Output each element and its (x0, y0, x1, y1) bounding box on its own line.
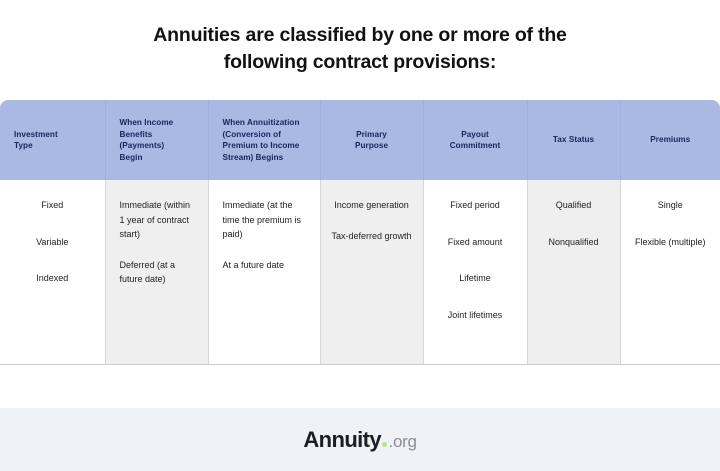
logo-dot-icon (382, 442, 387, 447)
page-title: Annuities are classified by one or more … (0, 22, 720, 76)
cell-item: Fixed amount (434, 235, 517, 250)
spacer (538, 213, 610, 235)
header-line: Purpose (355, 141, 388, 150)
cell-annuitization: Immediate (at the time the premium is pa… (208, 180, 320, 365)
annuity-org-logo[interactable]: Annuity .org (303, 427, 416, 453)
page-title-line-2: following contract provisions: (0, 49, 720, 76)
column-header-primary-purpose: Primary Purpose (320, 100, 423, 180)
cell-item: Nonqualified (538, 235, 610, 250)
table-header-row: Investment Type When Income Benefits (Pa… (0, 100, 720, 180)
cell-item: Single (631, 198, 711, 213)
header-line: Premiums (650, 135, 690, 144)
cell-item: Immediate (at the time the premium is pa… (223, 198, 310, 242)
spacer (331, 213, 413, 229)
column-header-payout-commitment: Payout Commitment (423, 100, 527, 180)
cell-item: Indexed (10, 271, 95, 286)
header-line: (Payments) (120, 141, 165, 150)
header-line: When Annuitization (223, 118, 300, 127)
cell-payout-commitment: Fixed period Fixed amount Lifetime Joint… (423, 180, 527, 365)
header-line: Stream) Begins (223, 153, 284, 162)
cell-item: Immediate (within 1 year of contract sta… (120, 198, 198, 242)
spacer (120, 242, 198, 258)
cell-item: Deferred (at a future date) (120, 258, 198, 287)
cell-item: Qualified (538, 198, 610, 213)
cell-item: Fixed period (434, 198, 517, 213)
infographic-page: Annuities are classified by one or more … (0, 0, 720, 471)
spacer (434, 213, 517, 235)
provisions-table-container: Investment Type When Income Benefits (Pa… (0, 100, 720, 365)
cell-item: Joint lifetimes (434, 308, 517, 323)
header-line: Premium to Income (223, 141, 300, 150)
footer-band: Annuity .org (0, 408, 720, 471)
cell-tax-status: Qualified Nonqualified (527, 180, 620, 365)
cell-primary-purpose: Income generation Tax-deferred growth (320, 180, 423, 365)
cell-item: Lifetime (434, 271, 517, 286)
table-row: Fixed Variable Indexed Immediate (within… (0, 180, 720, 365)
header-line: Benefits (120, 130, 153, 139)
provisions-table: Investment Type When Income Benefits (Pa… (0, 100, 720, 365)
cell-premiums: Single Flexible (multiple) (620, 180, 720, 365)
spacer (10, 213, 95, 235)
header-line: Tax Status (553, 135, 594, 144)
column-header-premiums: Premiums (620, 100, 720, 180)
column-header-investment-type: Investment Type (0, 100, 105, 180)
cell-item: Variable (10, 235, 95, 250)
cell-item: Tax-deferred growth (331, 229, 413, 244)
header-line: Type (14, 141, 33, 150)
header-line: Primary (356, 130, 387, 139)
cell-income-benefits: Immediate (within 1 year of contract sta… (105, 180, 208, 365)
column-header-tax-status: Tax Status (527, 100, 620, 180)
logo-brand-text: Annuity (303, 427, 381, 453)
cell-item: At a future date (223, 258, 310, 273)
cell-item: Flexible (multiple) (631, 235, 711, 250)
header-line: When Income (120, 118, 174, 127)
header-line: Begin (120, 153, 143, 162)
header-line: Commitment (450, 141, 501, 150)
page-title-line-1: Annuities are classified by one or more … (0, 22, 720, 49)
spacer (631, 213, 711, 235)
cell-item: Fixed (10, 198, 95, 213)
spacer (10, 249, 95, 271)
header-line: (Conversion of (223, 130, 281, 139)
column-header-income-benefits: When Income Benefits (Payments) Begin (105, 100, 208, 180)
cell-investment-type: Fixed Variable Indexed (0, 180, 105, 365)
header-line: Investment (14, 130, 58, 139)
spacer (434, 249, 517, 271)
cell-item: Income generation (331, 198, 413, 213)
table-body: Fixed Variable Indexed Immediate (within… (0, 180, 720, 365)
logo-tld-text: .org (389, 432, 417, 452)
header-line: Payout (461, 130, 489, 139)
spacer (223, 242, 310, 258)
spacer (434, 286, 517, 308)
column-header-annuitization: When Annuitization (Conversion of Premiu… (208, 100, 320, 180)
